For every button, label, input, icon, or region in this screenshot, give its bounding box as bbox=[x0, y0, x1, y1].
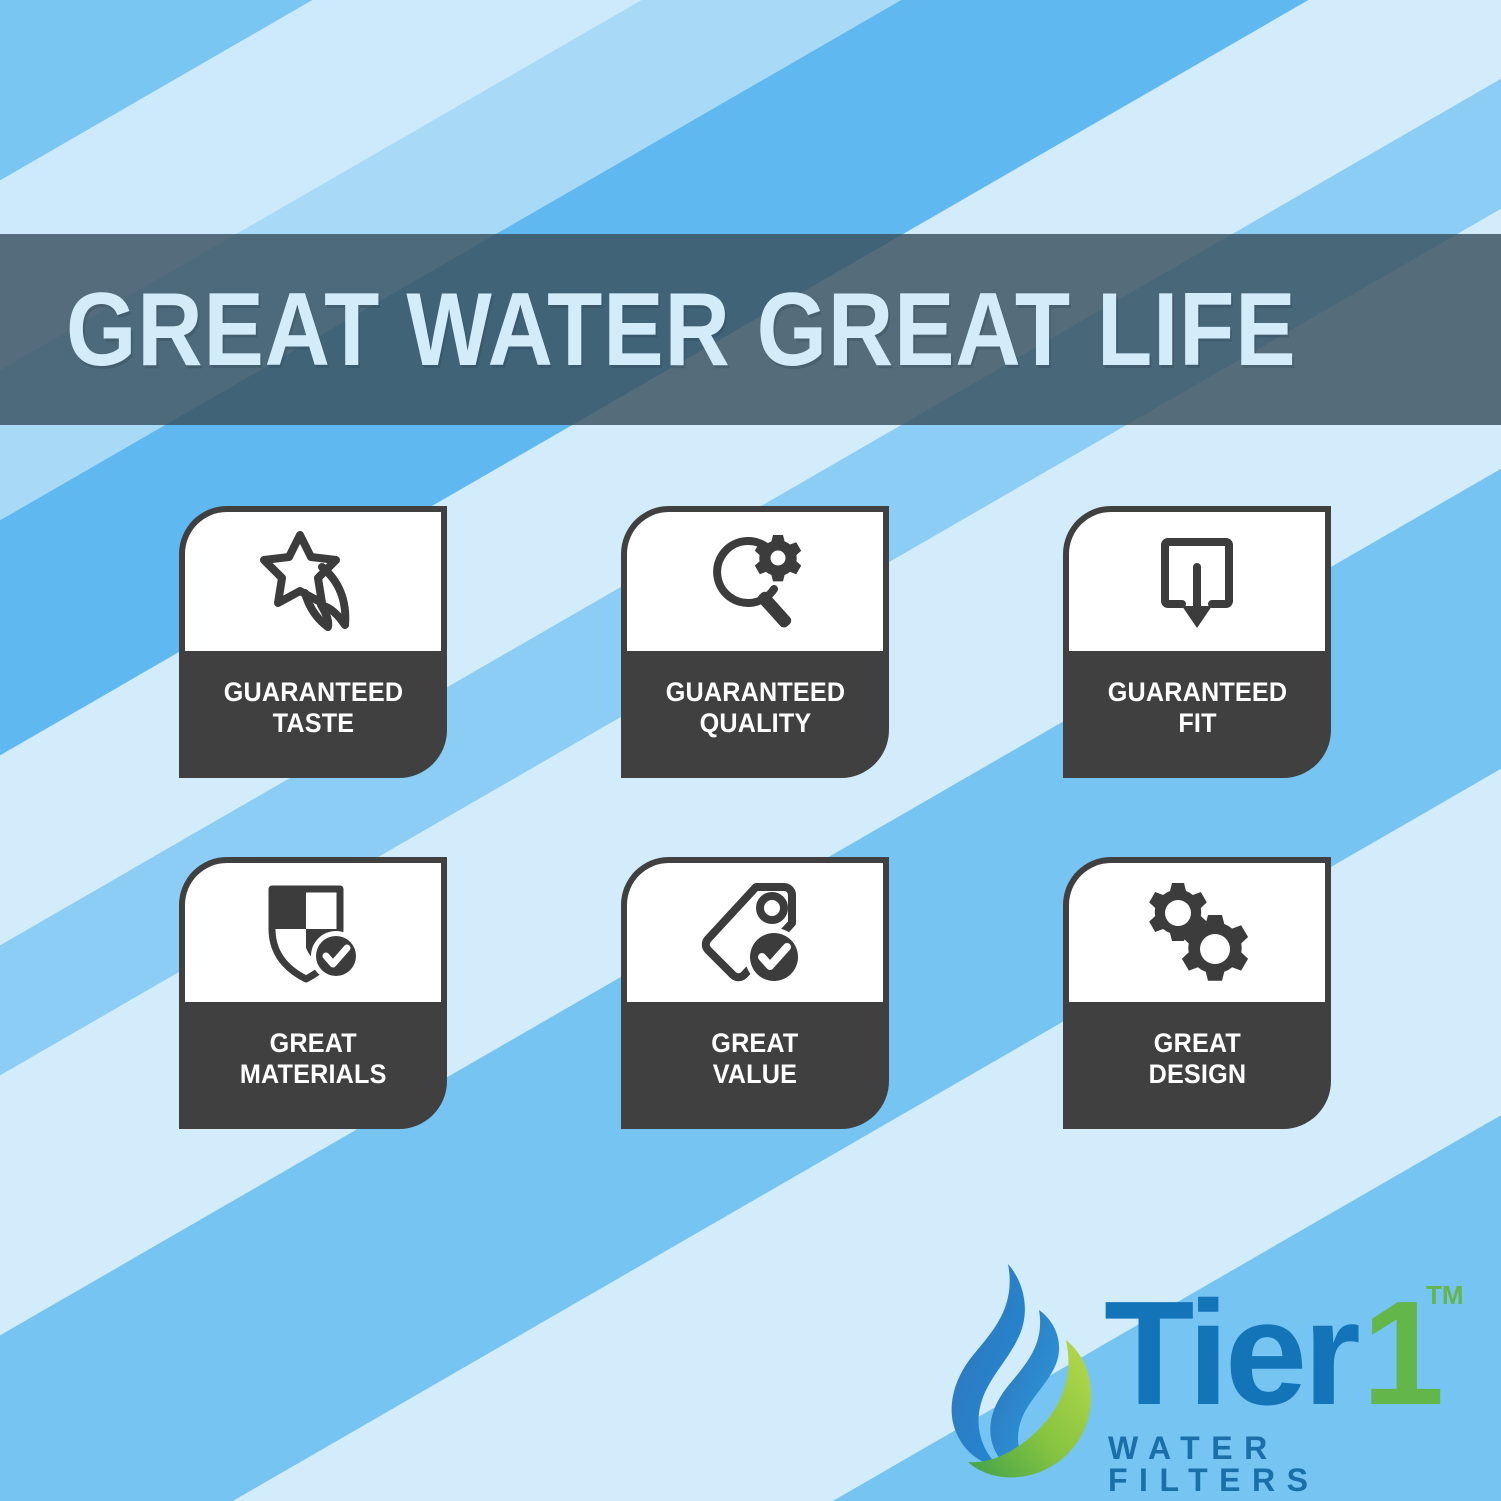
brand-name-tier: Tier bbox=[1104, 1280, 1357, 1428]
card-label-line2: VALUE bbox=[713, 1059, 797, 1089]
arrow-into-box-icon bbox=[1142, 527, 1252, 637]
card-label-line1: GUARANTEED bbox=[223, 677, 403, 707]
card-label: GUARANTEED QUALITY bbox=[665, 677, 845, 739]
two-gears-icon bbox=[1138, 879, 1256, 987]
logo-tagline: WATER FILTERS bbox=[1108, 1432, 1319, 1496]
card-label-line1: GREAT bbox=[1153, 1028, 1240, 1058]
card-label-panel: GUARANTEED TASTE bbox=[179, 651, 447, 778]
card-label-line2: FIT bbox=[1178, 708, 1216, 738]
card-label: GREAT DESIGN bbox=[1148, 1028, 1246, 1090]
card-label: GREAT VALUE bbox=[711, 1028, 798, 1090]
card-label-line2: TASTE bbox=[272, 708, 354, 738]
card-icon-panel bbox=[185, 512, 441, 651]
feature-card-guaranteed-quality[interactable]: GUARANTEED QUALITY bbox=[621, 506, 889, 778]
feature-card-great-value[interactable]: GREAT VALUE bbox=[621, 857, 889, 1129]
feature-card-guaranteed-taste[interactable]: GUARANTEED TASTE bbox=[179, 506, 447, 778]
card-label-line2: QUALITY bbox=[699, 708, 811, 738]
card-icon-panel bbox=[1069, 512, 1325, 651]
brand-logo: Tier 1 TM WATER FILTERS bbox=[946, 1258, 1446, 1494]
card-label: GUARANTEED FIT bbox=[1107, 677, 1287, 739]
shooting-star-icon bbox=[253, 527, 373, 637]
feature-card-guaranteed-fit[interactable]: GUARANTEED FIT bbox=[1063, 506, 1331, 778]
card-icon-panel bbox=[627, 512, 883, 651]
card-label-panel: GREAT MATERIALS bbox=[179, 1002, 447, 1129]
card-label-line2: MATERIALS bbox=[240, 1059, 387, 1089]
trademark-symbol: TM bbox=[1426, 1282, 1464, 1308]
feature-card-great-materials[interactable]: GREAT MATERIALS bbox=[179, 857, 447, 1129]
magnifier-gear-icon bbox=[695, 527, 815, 637]
card-label-line2: DESIGN bbox=[1148, 1059, 1246, 1089]
card-label-line1: GREAT bbox=[269, 1028, 356, 1058]
feature-card-great-design[interactable]: GREAT DESIGN bbox=[1063, 857, 1331, 1129]
card-label-panel: GREAT VALUE bbox=[621, 1002, 889, 1129]
card-label-panel: GUARANTEED FIT bbox=[1063, 651, 1331, 778]
price-tag-check-icon bbox=[696, 879, 814, 987]
card-icon-panel bbox=[185, 863, 441, 1002]
flame-leaf-droplet-icon bbox=[946, 1258, 1096, 1483]
infographic-canvas: GREAT WATER GREAT LIFE GUARANTEED TASTE bbox=[0, 0, 1501, 1501]
checkered-shield-check-icon bbox=[258, 879, 368, 987]
card-label-panel: GREAT DESIGN bbox=[1063, 1002, 1331, 1129]
card-label-line1: GUARANTEED bbox=[665, 677, 845, 707]
card-label-line1: GUARANTEED bbox=[1107, 677, 1287, 707]
card-label: GREAT MATERIALS bbox=[240, 1028, 387, 1090]
card-label-panel: GUARANTEED QUALITY bbox=[621, 651, 889, 778]
card-label-line1: GREAT bbox=[711, 1028, 798, 1058]
card-icon-panel bbox=[627, 863, 883, 1002]
card-icon-panel bbox=[1069, 863, 1325, 1002]
card-label: GUARANTEED TASTE bbox=[223, 677, 403, 739]
